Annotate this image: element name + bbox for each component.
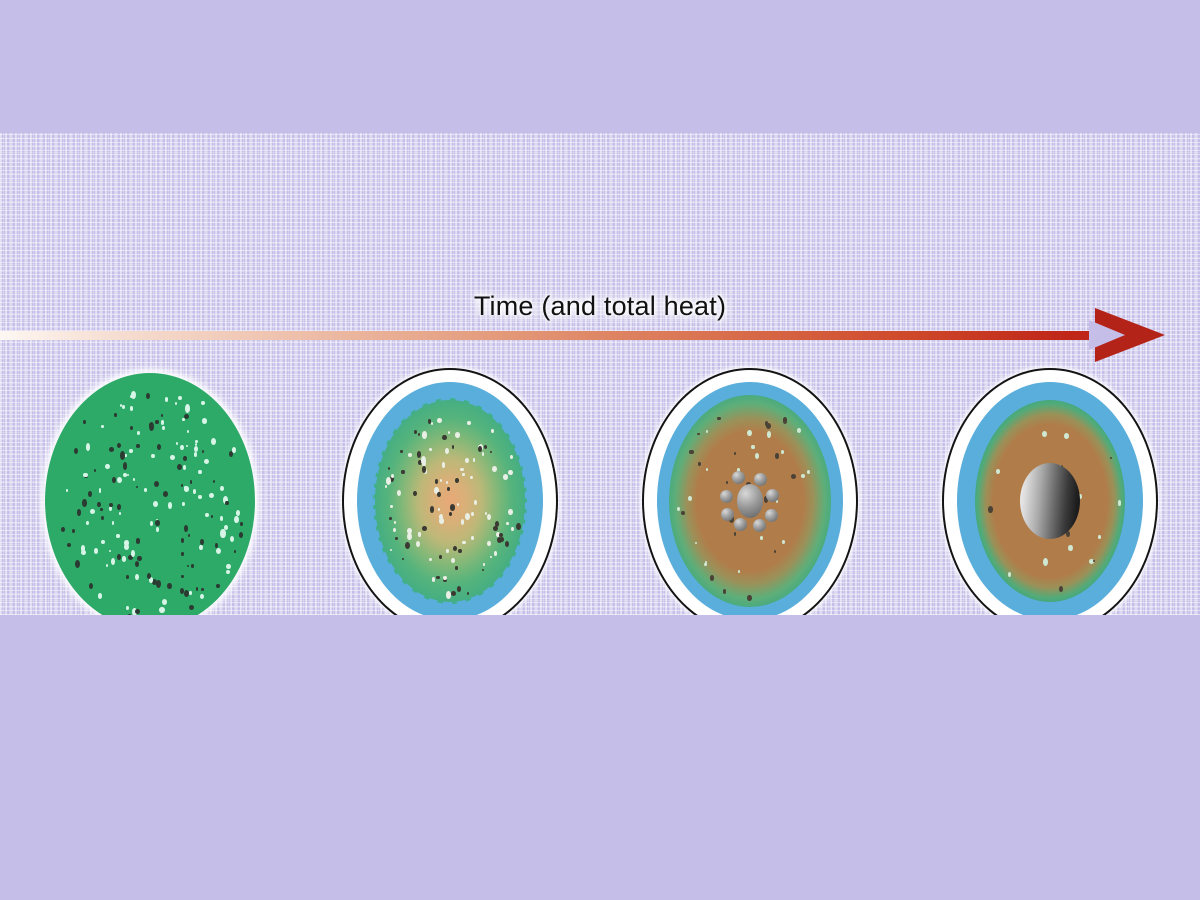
inclusion-speck: [695, 542, 697, 545]
inclusion-speck: [705, 561, 707, 564]
inclusion-speck: [450, 504, 455, 510]
inclusion-speck: [508, 509, 513, 515]
inclusion-speck: [90, 509, 95, 514]
inclusion-speck: [442, 435, 446, 440]
inclusion-speck: [216, 548, 221, 554]
inclusion-speck: [421, 456, 426, 465]
inclusion-speck: [135, 609, 140, 614]
inclusion-speck: [449, 512, 452, 516]
inclusion-speck: [194, 446, 198, 452]
inclusion-speck: [184, 590, 189, 597]
inclusion-speck: [105, 464, 110, 470]
inclusion-speck: [101, 540, 105, 544]
inclusion-speck: [184, 525, 188, 532]
inclusion-speck: [124, 454, 126, 458]
inclusion-speck: [394, 521, 396, 525]
inclusion-speck: [129, 449, 133, 453]
inclusion-speck: [112, 477, 116, 483]
inclusion-speck: [184, 486, 187, 489]
inclusion-speck: [155, 520, 160, 526]
inclusion-speck: [439, 555, 442, 559]
inclusion-speck: [443, 576, 447, 580]
inclusion-speck: [471, 536, 475, 540]
inclusion-speck: [149, 423, 151, 427]
inclusion-speck: [455, 478, 459, 483]
inclusion-speck: [198, 495, 202, 500]
inclusion-speck: [510, 455, 513, 459]
inclusion-speck: [109, 550, 111, 552]
inclusion-speck: [774, 550, 776, 553]
inclusion-speck: [126, 575, 129, 579]
inclusion-speck: [191, 564, 194, 567]
inclusion-speck: [109, 447, 114, 452]
inclusion-speck: [153, 501, 158, 507]
stage-metallic-core-formation: Metallic core formation?: [600, 365, 900, 615]
europa-forming-core: [642, 365, 858, 615]
inclusion-speck: [88, 491, 92, 497]
inclusion-speck: [152, 579, 157, 585]
inclusion-speck: [77, 509, 81, 515]
inclusion-speck: [181, 575, 184, 579]
inclusion-speck: [131, 550, 136, 558]
inclusion-speck: [474, 500, 477, 505]
inclusion-speck: [195, 440, 198, 443]
inclusion-speck: [61, 527, 65, 532]
inclusion-speck: [144, 488, 148, 492]
inclusion-speck: [807, 470, 811, 475]
inclusion-speck: [766, 423, 771, 429]
inclusion-speck: [127, 474, 129, 476]
inclusion-speck: [86, 443, 91, 451]
inclusion-speck: [89, 583, 94, 590]
inclusion-speck: [440, 479, 442, 483]
inclusion-speck: [988, 506, 993, 513]
inclusion-speck: [437, 492, 441, 497]
inclusion-speck: [497, 537, 502, 543]
inclusion-speck: [407, 528, 412, 534]
inclusion-speck: [402, 558, 404, 561]
inclusion-speck: [136, 444, 140, 449]
inclusion-speck: [117, 504, 121, 510]
inclusion-speck: [94, 469, 96, 472]
inclusion-speck: [422, 526, 427, 531]
inclusion-speck: [106, 564, 108, 568]
inclusion-speck: [66, 489, 68, 492]
inclusion-speck: [120, 404, 123, 407]
inclusion-speck: [429, 448, 431, 451]
inclusion-speck: [234, 516, 239, 523]
inclusion-speck: [122, 556, 127, 562]
inclusion-speck: [432, 577, 435, 582]
inclusion-speck: [738, 570, 740, 573]
europa-evolution-figure: Time (and total heat) Birth of Europa Oc…: [0, 133, 1200, 615]
inclusion-speck: [1093, 560, 1095, 563]
inclusion-speck: [1068, 545, 1073, 552]
inclusion-speck: [156, 519, 158, 521]
inclusion-speck: [109, 503, 113, 507]
inclusion-speck: [706, 430, 708, 433]
inclusion-speck: [783, 417, 788, 423]
inclusion-speck: [390, 549, 392, 551]
inclusion-speck: [99, 488, 102, 493]
inclusion-speck: [182, 502, 185, 507]
inclusion-speck: [224, 525, 228, 531]
inclusion-speck: [495, 521, 499, 527]
inclusion-speck: [451, 558, 455, 563]
inclusion-speck: [149, 577, 153, 582]
inclusion-speck: [149, 424, 151, 427]
inclusion-speck: [146, 393, 150, 399]
inclusion-speck: [220, 486, 224, 491]
inclusion-speck: [199, 545, 203, 551]
inclusion-speck: [1064, 433, 1069, 439]
inclusion-speck: [479, 444, 483, 451]
inclusion-speck: [747, 595, 752, 601]
inclusion-speck: [446, 481, 448, 484]
inclusion-speck: [465, 513, 470, 520]
inclusion-speck: [195, 443, 197, 446]
inclusion-speck: [448, 431, 450, 434]
inclusion-speck: [128, 614, 131, 615]
inclusion-speck: [499, 533, 503, 537]
inclusion-speck: [429, 558, 432, 561]
inclusion-speck: [109, 506, 112, 511]
inclusion-speck: [97, 502, 101, 508]
inclusion-speck: [442, 462, 446, 468]
inclusion-speck: [710, 575, 715, 581]
inclusion-speck: [681, 511, 685, 515]
inclusion-speck: [183, 465, 186, 470]
inclusion-speck: [775, 453, 779, 458]
inclusion-speck: [185, 404, 190, 413]
inclusion-speck: [114, 413, 116, 417]
inclusion-speck: [453, 546, 457, 551]
inclusion-speck: [116, 534, 120, 538]
inclusion-speck: [430, 506, 434, 512]
inclusion-speck: [697, 433, 700, 436]
inclusion-speck: [200, 594, 204, 599]
inclusion-speck: [213, 480, 215, 483]
inclusion-speck: [155, 420, 158, 424]
inclusion-speck: [232, 447, 237, 453]
inclusion-speck: [478, 446, 482, 452]
inclusion-speck: [458, 549, 462, 553]
inclusion-speck: [717, 417, 720, 421]
inclusion-speck: [490, 451, 492, 453]
inclusion-speck: [1110, 457, 1112, 459]
inclusion-speck: [137, 556, 142, 561]
inclusion-speck: [492, 466, 497, 472]
inclusion-speck: [445, 448, 449, 454]
mixed-interior-layer: [375, 400, 525, 602]
inclusion-speck: [119, 512, 121, 515]
inclusion-speck: [193, 489, 196, 494]
inclusion-speck: [137, 431, 140, 435]
inclusion-speck: [123, 462, 127, 470]
metal-blob: [721, 508, 734, 521]
inclusion-speck: [434, 487, 439, 494]
inclusion-speck: [161, 420, 164, 425]
inclusion-speck: [220, 529, 225, 538]
inclusion-speck: [181, 552, 183, 556]
inclusion-speck: [168, 502, 172, 509]
inclusion-speck: [223, 496, 228, 504]
stage-row: Birth of Europa Ocean formation: [0, 365, 1200, 615]
inclusion-speck: [417, 451, 421, 458]
inclusion-speck: [81, 545, 86, 552]
inclusion-speck: [496, 532, 500, 537]
inclusion-speck: [200, 539, 204, 545]
inclusion-speck: [424, 469, 427, 474]
inclusion-speck: [83, 420, 86, 424]
inclusion-speck: [133, 478, 135, 480]
inclusion-speck: [100, 508, 103, 512]
inclusion-speck: [124, 544, 129, 550]
inclusion-speck: [1118, 500, 1122, 505]
inclusion-speck: [117, 443, 121, 448]
inclusion-speck: [211, 515, 213, 518]
inclusion-speck: [189, 591, 192, 596]
inclusion-speck: [209, 493, 214, 498]
inclusion-speck: [123, 473, 127, 477]
inclusion-speck: [177, 464, 182, 470]
inclusion-speck: [167, 583, 172, 589]
inclusion-speck: [1059, 586, 1063, 592]
inclusion-speck: [1008, 572, 1011, 577]
inclusion-speck: [422, 466, 426, 472]
inclusion-speck: [151, 454, 155, 459]
inclusion-speck: [423, 470, 425, 473]
inclusion-speck: [760, 536, 763, 540]
inclusion-speck: [180, 445, 184, 450]
inclusion-speck: [428, 419, 431, 423]
inclusion-speck: [211, 438, 216, 445]
inclusion-speck: [183, 456, 187, 462]
inclusion-speck: [452, 445, 454, 449]
inclusion-speck: [131, 391, 136, 399]
inclusion-speck: [181, 484, 183, 488]
europa-with-ocean: [342, 365, 558, 615]
inclusion-speck: [162, 599, 167, 605]
metal-blob: [753, 519, 766, 532]
metal-blob: [754, 473, 767, 486]
inclusion-speck: [1098, 535, 1101, 539]
inclusion-speck: [83, 473, 87, 478]
stage-full-differentiation: Full differentiation?: [900, 365, 1200, 615]
inclusion-speck: [72, 529, 75, 533]
inclusion-speck: [163, 491, 168, 497]
inclusion-speck: [239, 532, 243, 538]
inclusion-speck: [996, 469, 1000, 474]
inclusion-speck: [482, 569, 484, 571]
inclusion-speck: [1089, 559, 1094, 565]
differentiated-europa: [942, 365, 1158, 615]
inclusion-speck: [506, 522, 509, 525]
inclusion-speck: [467, 592, 469, 595]
inclusion-speck: [751, 445, 754, 449]
inclusion-speck: [215, 543, 219, 548]
inclusion-speck: [98, 593, 103, 599]
inclusion-speck: [491, 429, 494, 433]
inclusion-speck: [391, 474, 394, 478]
inclusion-speck: [734, 452, 736, 456]
inclusion-speck: [414, 430, 417, 434]
inclusion-speck: [229, 451, 233, 457]
inclusion-speck: [471, 512, 474, 516]
inclusion-speck: [503, 474, 508, 480]
inclusion-speck: [149, 422, 154, 431]
inclusion-speck: [516, 523, 521, 530]
inclusion-speck: [470, 476, 473, 479]
inclusion-speck: [401, 470, 405, 475]
inclusion-speck: [487, 514, 491, 521]
inclusion-speck: [182, 418, 185, 421]
inclusion-speck: [473, 458, 475, 461]
inclusion-speck: [418, 433, 420, 436]
inclusion-speck: [797, 428, 801, 433]
inclusion-speck: [755, 453, 759, 460]
inclusion-speck: [407, 533, 412, 541]
inclusion-speck: [135, 561, 139, 567]
inclusion-speck: [225, 501, 229, 506]
inclusion-speck: [422, 462, 427, 467]
inclusion-speck: [130, 426, 133, 430]
arrow-head-notch: [1089, 320, 1125, 350]
inclusion-speck: [196, 587, 199, 591]
inclusion-speck: [457, 586, 462, 592]
inclusion-speck: [175, 402, 177, 405]
inclusion-speck: [154, 481, 159, 487]
inclusion-speck: [205, 513, 209, 517]
metal-blob-core: [737, 484, 763, 518]
inclusion-speck: [120, 451, 125, 460]
inclusion-speck: [485, 512, 487, 515]
inclusion-speck: [150, 521, 153, 526]
inclusion-speck: [388, 467, 390, 470]
inclusion-speck: [698, 462, 701, 466]
inclusion-speck: [184, 414, 189, 419]
time-axis-label: Time (and total heat): [0, 291, 1200, 322]
inclusion-speck: [439, 514, 443, 520]
inclusion-speck: [408, 453, 413, 458]
inclusion-speck: [202, 418, 207, 424]
time-and-heat-arrow: [0, 326, 1163, 344]
inclusion-speck: [688, 496, 692, 501]
inclusion-speck: [457, 503, 459, 506]
metal-blob: [720, 490, 733, 503]
inclusion-speck: [236, 510, 240, 516]
inclusion-speck: [184, 486, 189, 492]
inclusion-speck: [111, 558, 115, 565]
inclusion-speck: [765, 421, 768, 426]
inclusion-speck: [126, 606, 129, 610]
inclusion-speck: [190, 480, 193, 484]
undifferentiated-europa: [42, 365, 258, 615]
inclusion-speck: [431, 422, 433, 425]
inclusion-speck: [455, 432, 460, 438]
inclusion-speck: [782, 540, 785, 544]
inclusion-speck: [161, 414, 163, 417]
inclusion-speck: [461, 519, 464, 525]
inclusion-speck: [689, 450, 693, 455]
stage-ocean-formation: Ocean formation: [300, 365, 600, 615]
inclusion-speck: [136, 486, 138, 489]
inclusion-speck: [460, 468, 464, 472]
inclusion-speck: [438, 508, 441, 511]
inclusion-speck: [465, 458, 469, 463]
inclusion-speck: [400, 450, 403, 454]
inclusion-speck: [446, 591, 451, 598]
inclusion-speck: [216, 584, 221, 589]
inclusion-speck: [767, 431, 772, 438]
inclusion-speck: [157, 444, 161, 450]
inclusion-speck: [180, 588, 185, 594]
inclusion-speck: [511, 527, 514, 531]
inclusion-speck: [128, 555, 133, 560]
inclusion-speck: [493, 526, 498, 532]
inclusion-speck: [1042, 431, 1047, 437]
inclusion-speck: [226, 570, 230, 574]
inclusion-speck: [202, 450, 204, 453]
inclusion-speck: [462, 541, 465, 544]
inclusion-speck: [706, 468, 709, 471]
inclusion-speck: [86, 521, 89, 525]
inclusion-speck: [112, 521, 115, 525]
inclusion-speck: [386, 477, 391, 484]
inclusion-speck: [240, 522, 243, 527]
inclusion-speck: [500, 537, 504, 543]
inclusion-speck: [94, 548, 99, 554]
inclusion-speck: [416, 541, 420, 547]
inclusion-speck: [187, 565, 189, 567]
inclusion-speck: [397, 490, 401, 496]
inclusion-speck: [704, 563, 707, 567]
metal-blob: [765, 509, 778, 522]
inclusion-speck: [446, 549, 449, 554]
inclusion-speck: [147, 573, 151, 579]
inclusion-speck: [494, 551, 497, 556]
inclusion-speck: [490, 556, 492, 559]
inclusion-speck: [462, 473, 464, 477]
inclusion-speck: [159, 607, 164, 613]
inclusion-speck: [455, 566, 457, 570]
inclusion-speck: [791, 474, 796, 479]
inclusion-speck: [170, 455, 175, 460]
inclusion-speck: [510, 471, 512, 475]
inclusion-speck: [413, 491, 417, 496]
inclusion-speck: [130, 395, 133, 399]
inclusion-speck: [467, 421, 471, 425]
inclusion-speck: [157, 615, 161, 616]
metal-blob: [734, 518, 747, 531]
inclusion-speck: [395, 537, 398, 540]
inclusion-speck: [483, 563, 485, 565]
inclusion-speck: [677, 507, 681, 511]
inclusion-speck: [81, 550, 86, 555]
inclusion-speck: [176, 442, 178, 445]
inclusion-speck: [390, 505, 393, 508]
arrow-shaft: [0, 331, 1130, 340]
inclusion-speck: [451, 591, 456, 596]
metal-blob: [766, 489, 779, 502]
inclusion-speck: [478, 445, 482, 449]
inclusion-speck: [84, 473, 87, 478]
inclusion-speck: [117, 477, 122, 483]
inclusion-speck: [436, 576, 439, 580]
inclusion-speck: [74, 448, 78, 455]
inclusion-speck: [162, 426, 165, 430]
inclusion-speck: [67, 543, 71, 547]
